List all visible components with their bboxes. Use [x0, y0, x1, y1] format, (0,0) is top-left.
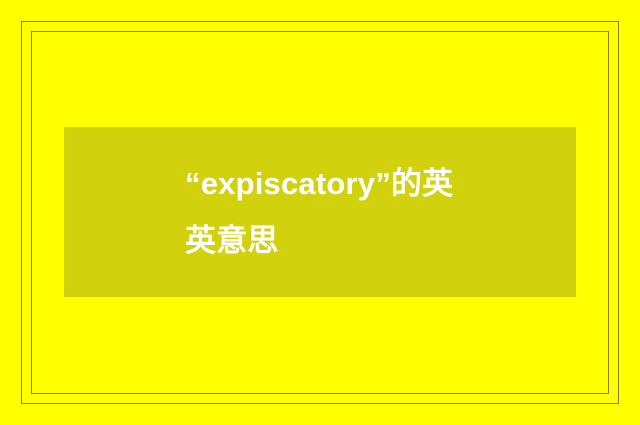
banner-canvas: “expiscatory”的英英意思 — [0, 0, 640, 425]
title-plate: “expiscatory”的英英意思 — [64, 127, 576, 297]
page-title: “expiscatory”的英英意思 — [185, 155, 455, 269]
